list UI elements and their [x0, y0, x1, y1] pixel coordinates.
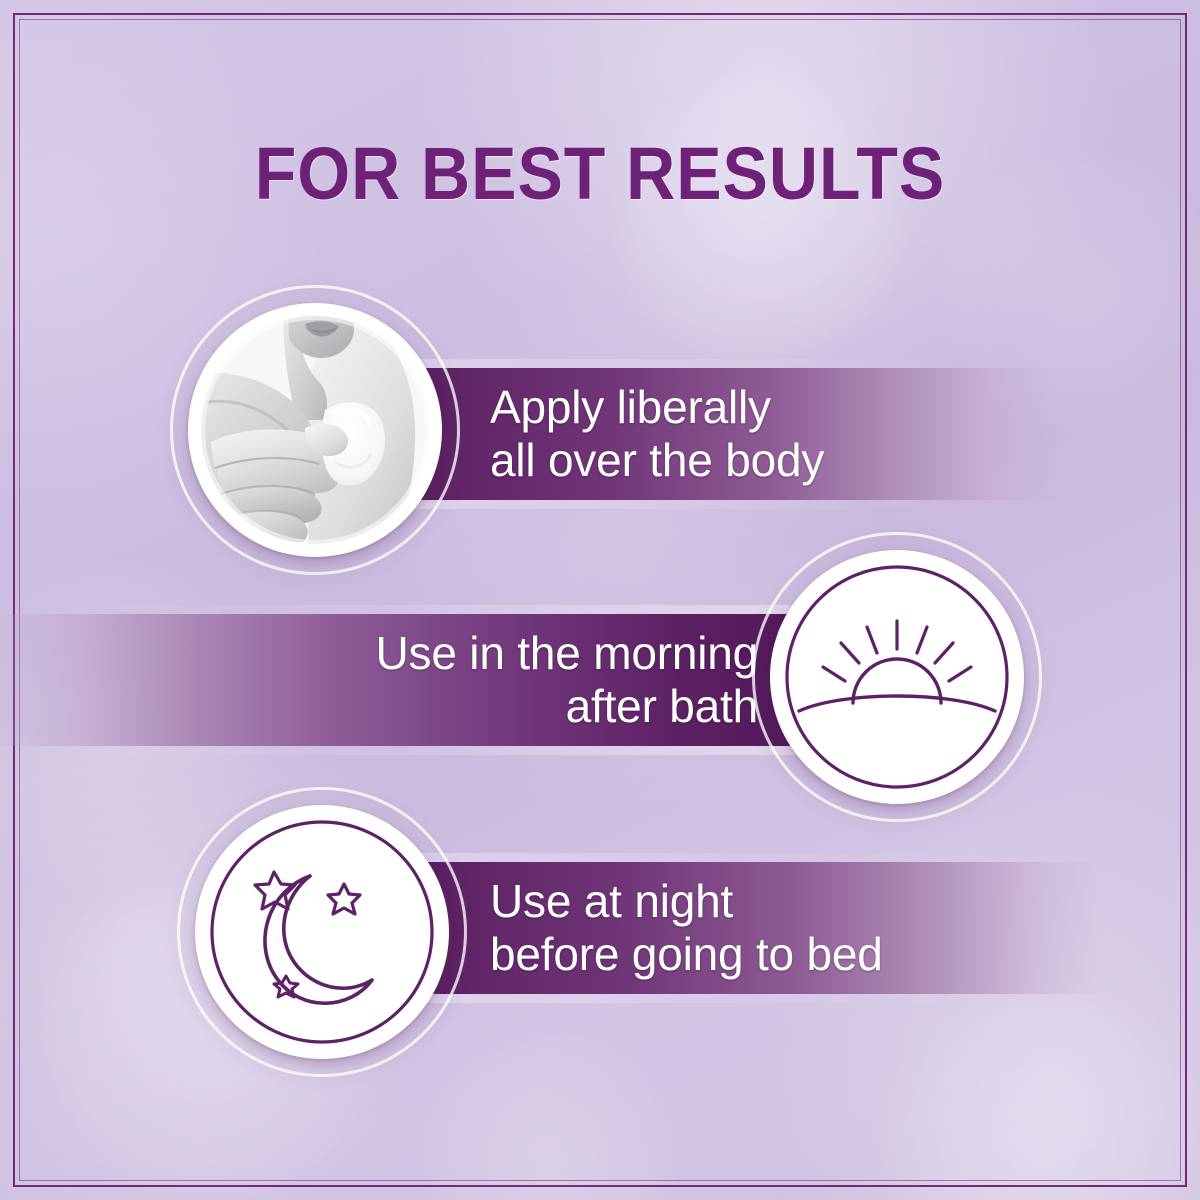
sunrise-icon [783, 563, 1011, 791]
banner-highlight-bottom [0, 746, 800, 755]
circle-icon-area [208, 818, 436, 1046]
woman-applying-cream-photo [201, 316, 429, 544]
step-icon-night [177, 787, 467, 1077]
circle-white-disc [195, 805, 449, 1059]
for-best-results-poster: FOR BEST RESULTS Apply liberally all ove… [0, 0, 1200, 1200]
step-text-morning: Use in the morning after bath [0, 627, 800, 734]
banner-highlight-top [0, 605, 800, 614]
bokeh-blob [610, 70, 910, 370]
bokeh-blob [880, 980, 1200, 1200]
step-banner-morning: Use in the morning after bath [0, 614, 800, 746]
crescent-moon-stars-icon [208, 818, 436, 1046]
circle-white-disc [188, 303, 442, 557]
step-icon-apply [170, 285, 460, 575]
circle-icon-area [783, 563, 1011, 791]
circle-photo-area [201, 316, 429, 544]
page-title: FOR BEST RESULTS [48, 137, 1152, 211]
circle-white-disc [770, 550, 1024, 804]
step-icon-morning [752, 532, 1042, 822]
